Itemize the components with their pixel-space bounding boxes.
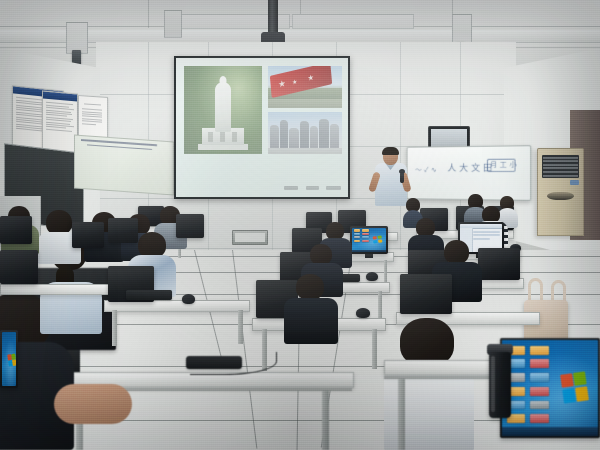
whiteboard[interactable]: ～ ✓ ∿ ⼈ ⼤ ⽂ ⽥ ⽉ ⼯ ⼩ — [407, 145, 532, 201]
windows-desktop-monitor[interactable] — [500, 338, 600, 438]
white-statue-photo — [184, 66, 262, 154]
lcd-monitor[interactable] — [0, 216, 32, 244]
thermos-flask[interactable] — [489, 352, 511, 418]
keyboard[interactable] — [186, 356, 242, 369]
projector-pole — [268, 0, 278, 34]
desk-leg — [384, 260, 387, 282]
projection-screen — [174, 56, 350, 199]
wall-sign — [74, 135, 174, 196]
air-conditioner[interactable] — [537, 148, 584, 236]
speaker-housing — [164, 10, 182, 38]
stone-pillars-photo — [268, 112, 342, 154]
bare-arm — [54, 384, 132, 424]
poster-body — [43, 99, 77, 136]
air-conditioner-badge — [570, 180, 579, 185]
air-conditioner-vent — [542, 155, 579, 178]
monitor-stand — [365, 254, 373, 258]
poster-body — [79, 100, 107, 129]
slide-footer-captions — [176, 186, 348, 192]
desk-leg — [322, 391, 329, 450]
lcd-monitor[interactable] — [0, 250, 38, 284]
lcd-monitor[interactable] — [108, 218, 138, 243]
desk-leg — [398, 379, 405, 450]
classroom-photo: ～ ✓ ∿ ⼈ ⼤ ⽂ ⽥ ⽉ ⼯ ⼩ — [0, 0, 600, 450]
windows-desktop-monitor[interactable] — [350, 226, 388, 254]
desk-leg — [112, 310, 117, 346]
desk-leg — [238, 310, 243, 344]
student-head — [400, 318, 454, 366]
desk-leg — [372, 329, 377, 369]
red-banner-photo — [268, 66, 342, 108]
computer-mouse[interactable] — [356, 308, 370, 318]
screen-surface — [176, 58, 348, 197]
lcd-monitor[interactable] — [478, 248, 520, 280]
lcd-monitor[interactable] — [176, 214, 204, 238]
lcd-monitor[interactable] — [72, 222, 104, 248]
wall-outlet-panel[interactable] — [232, 230, 268, 245]
lecturer — [374, 148, 408, 206]
desk-leg — [378, 291, 382, 319]
lcd-monitor[interactable] — [400, 274, 452, 314]
computer-mouse[interactable] — [366, 272, 378, 281]
computer-mouse[interactable] — [182, 294, 195, 304]
windows-desktop-monitor[interactable] — [0, 330, 18, 388]
keyboard[interactable] — [126, 290, 172, 300]
air-conditioner-handle — [547, 192, 574, 200]
lecturer-hair — [382, 147, 399, 155]
